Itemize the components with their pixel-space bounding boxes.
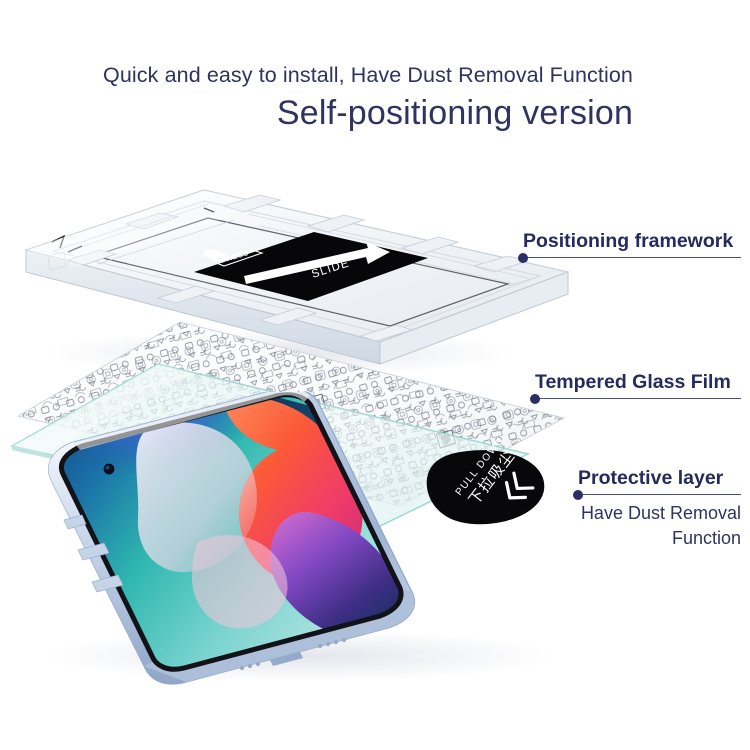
headline-block: Quick and easy to install, Have Dust Rem… bbox=[0, 60, 750, 136]
callout-rule bbox=[578, 494, 741, 495]
product-graphic-canvas: Quick and easy to install, Have Dust Rem… bbox=[0, 0, 750, 750]
callout-protective-layer: Protective layer Have Dust Removal Funct… bbox=[578, 467, 741, 551]
phone-svg bbox=[8, 392, 608, 694]
callout-sublabel-line1: Have Dust Removal bbox=[578, 501, 741, 526]
callout-tempered-glass-film: Tempered Glass Film bbox=[535, 371, 741, 399]
callout-rule bbox=[535, 398, 741, 399]
callout-dot bbox=[573, 490, 583, 500]
front-camera-icon bbox=[104, 464, 115, 475]
headline-secondary: Self-positioning version bbox=[0, 90, 750, 136]
headline-primary: Quick and easy to install, Have Dust Rem… bbox=[0, 60, 750, 90]
callout-sublabel-line2: Function bbox=[578, 526, 741, 551]
callout-label: Positioning framework bbox=[523, 230, 741, 252]
callout-label: Protective layer bbox=[578, 467, 741, 489]
callout-label: Tempered Glass Film bbox=[535, 371, 741, 393]
phone-layer bbox=[8, 392, 608, 692]
callout-rule bbox=[523, 257, 741, 258]
callout-positioning-framework: Positioning framework bbox=[523, 230, 741, 258]
